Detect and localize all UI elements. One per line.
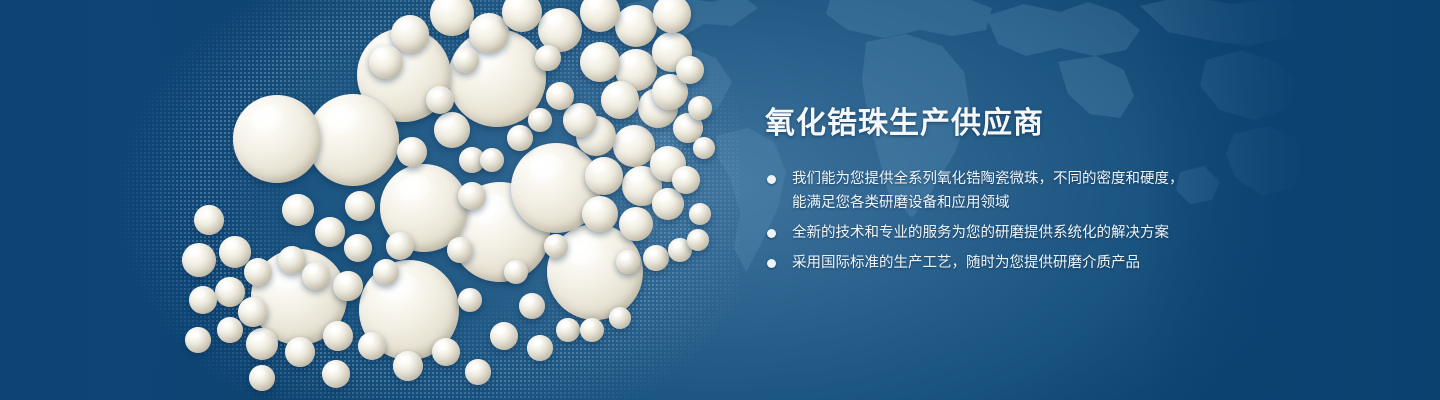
bead: [182, 243, 216, 277]
bead: [615, 5, 657, 47]
bead: [217, 317, 243, 343]
bead: [693, 137, 715, 159]
bead: [504, 260, 528, 284]
bead: [434, 112, 470, 148]
bead: [458, 288, 482, 312]
bead: [194, 205, 224, 235]
banner-copy-block: 氧化锆珠生产供应商 我们能为您提供全系列氧化锆陶瓷微珠，不同的密度和硬度， 能满…: [765, 104, 1325, 275]
list-item: 我们能为您提供全系列氧化锆陶瓷微珠，不同的密度和硬度， 能满足您各类研磨设备和应…: [765, 167, 1325, 215]
bead: [189, 286, 217, 314]
list-item: 采用国际标准的生产工艺，随时为您提供研磨介质产品: [765, 251, 1325, 275]
bead: [302, 262, 330, 290]
bead: [688, 96, 712, 120]
bead: [426, 86, 454, 114]
bead: [672, 166, 700, 194]
zirconia-beads-photo: [0, 0, 760, 400]
bead: [585, 157, 623, 195]
bead: [601, 81, 639, 119]
bead: [480, 148, 504, 172]
bead: [397, 137, 427, 167]
bead: [315, 217, 345, 247]
bead: [323, 321, 353, 351]
bead: [430, 0, 474, 36]
bead: [546, 82, 574, 110]
bead: [249, 365, 275, 391]
bead: [609, 307, 631, 329]
bead: [246, 328, 278, 360]
bullet-dot-icon: [767, 259, 776, 268]
bead: [373, 259, 399, 285]
bead: [393, 351, 423, 381]
bead: [185, 327, 211, 353]
bead: [507, 125, 533, 151]
bead: [386, 232, 414, 260]
bead: [333, 271, 363, 301]
bead: [502, 0, 542, 32]
product-hero-banner: 氧化锆珠生产供应商 我们能为您提供全系列氧化锆陶瓷微珠，不同的密度和硬度， 能满…: [0, 0, 1440, 400]
bead: [238, 297, 268, 327]
feature-bullet-list: 我们能为您提供全系列氧化锆陶瓷微珠，不同的密度和硬度， 能满足您各类研磨设备和应…: [765, 167, 1325, 275]
bullet-dot-icon: [767, 229, 776, 238]
bead: [528, 108, 552, 132]
bead: [244, 258, 272, 286]
bead: [653, 0, 691, 33]
bead: [613, 125, 655, 167]
bead: [582, 196, 618, 232]
bead: [580, 42, 620, 82]
bullet-dot-icon: [767, 175, 776, 184]
bead: [556, 318, 580, 342]
bead: [580, 318, 604, 342]
bead: [322, 360, 350, 388]
bullet-text-line: 我们能为您提供全系列氧化锆陶瓷微珠，不同的密度和硬度，: [792, 167, 1325, 191]
bead: [544, 234, 568, 258]
bead: [285, 337, 315, 367]
bead: [432, 338, 460, 366]
bead: [535, 45, 561, 71]
bullet-text-line: 全新的技术和专业的服务为您的研磨提供系统化的解决方案: [792, 221, 1325, 245]
bead: [278, 246, 306, 274]
bead: [643, 245, 669, 271]
bead: [687, 229, 709, 251]
bead: [580, 0, 620, 32]
bead: [344, 234, 372, 262]
bead: [527, 335, 553, 361]
bead: [358, 332, 386, 360]
bead: [619, 207, 653, 241]
bead: [519, 293, 545, 319]
bullet-text-line: 能满足您各类研磨设备和应用领域: [792, 191, 1325, 215]
bullet-text-line: 采用国际标准的生产工艺，随时为您提供研磨介质产品: [792, 251, 1325, 275]
bead: [616, 250, 640, 274]
bead: [465, 359, 491, 385]
bead: [391, 15, 429, 53]
bead: [447, 237, 473, 263]
bead: [676, 56, 704, 84]
bead: [652, 188, 684, 220]
bead: [233, 95, 321, 183]
bead: [689, 203, 711, 225]
bead: [563, 103, 597, 137]
bead: [369, 45, 403, 79]
bead: [453, 47, 479, 73]
bead: [345, 191, 375, 221]
page-title: 氧化锆珠生产供应商: [765, 104, 1325, 144]
bead: [282, 194, 314, 226]
bead: [490, 322, 518, 350]
list-item: 全新的技术和专业的服务为您的研磨提供系统化的解决方案: [765, 221, 1325, 245]
bead: [458, 182, 486, 210]
